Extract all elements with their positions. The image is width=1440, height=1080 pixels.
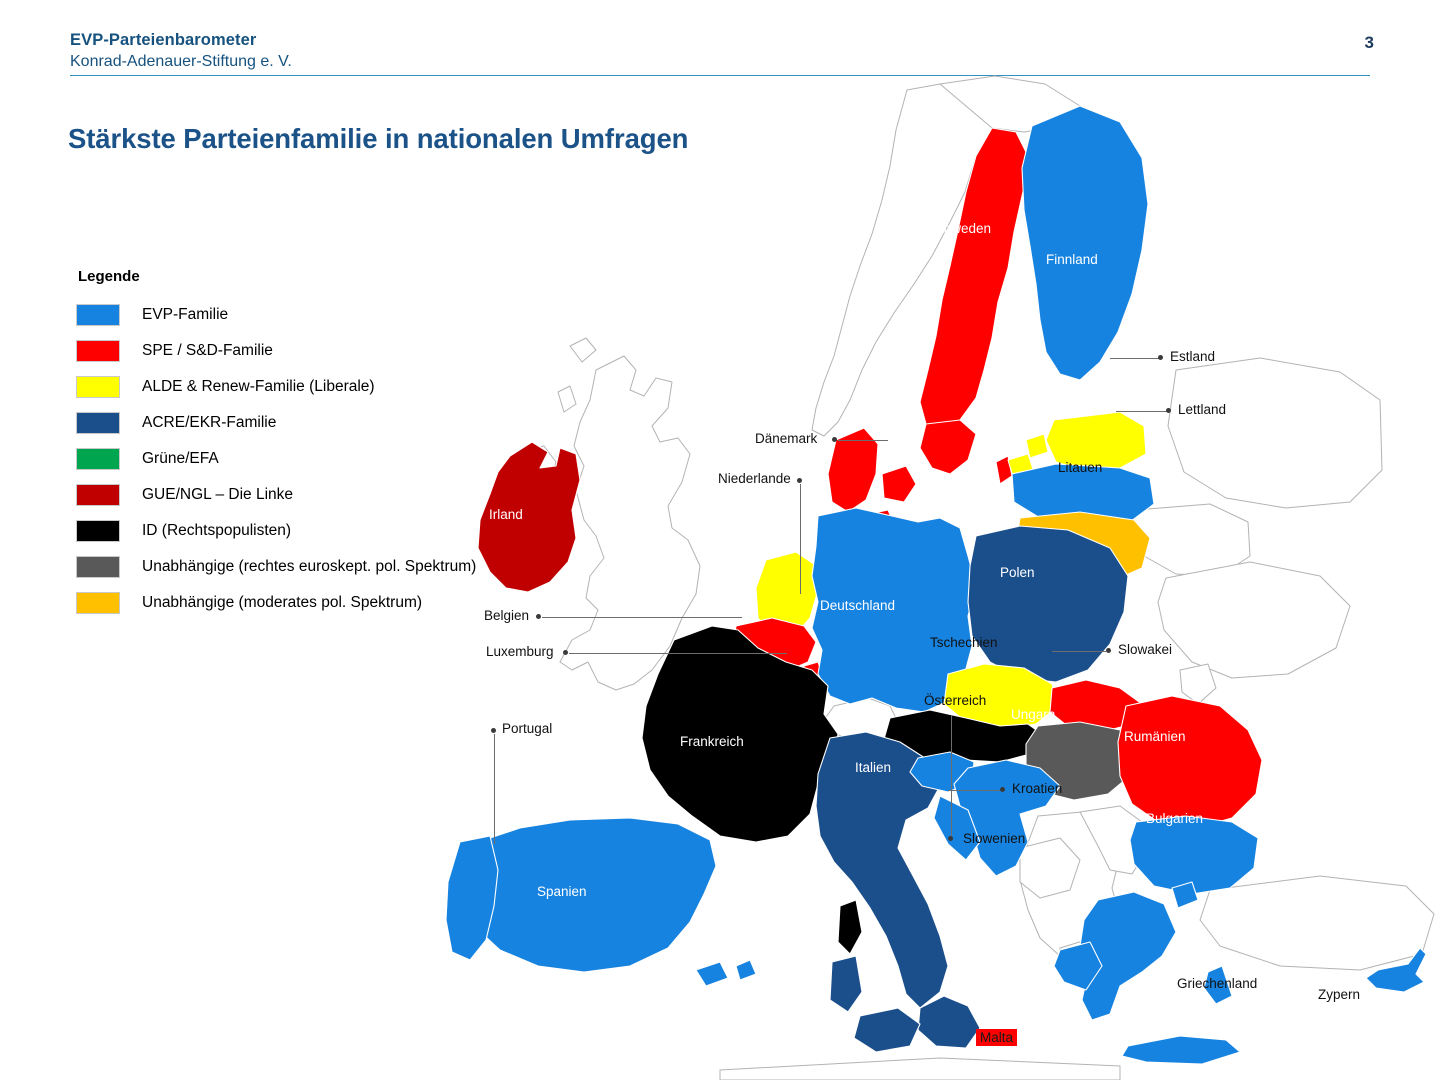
page-header: EVP-Parteienbarometer Konrad-Adenauer-St… (0, 0, 1440, 78)
map-label-griechenland: Griechenland (1177, 977, 1257, 991)
leader-line-slowakei (1052, 651, 1106, 652)
legend-swatch-gue (76, 484, 120, 506)
country-sizilien (854, 1008, 920, 1052)
map-label-irland: Irland (489, 508, 523, 522)
leader-dot-estland (1158, 355, 1163, 360)
page-number: 3 (1365, 33, 1374, 53)
map-label-polen: Polen (1000, 566, 1035, 580)
country-spanien (462, 818, 716, 972)
country-finnland (1022, 106, 1148, 380)
map-label-belgien: Belgien (484, 609, 529, 623)
map-label-frankreich: Frankreich (680, 735, 744, 749)
legend-swatch-unab-rechts (76, 556, 120, 578)
leader-line-lettland (1116, 411, 1170, 412)
outline-hebrides (558, 386, 576, 412)
legend-swatch-unab-moderat (76, 592, 120, 614)
leader-dot-daenemark (832, 437, 837, 442)
leader-dot-kroatien (1000, 787, 1005, 792)
map-label-finnland: Finnland (1046, 253, 1098, 267)
map-label-lettland: Lettland (1178, 403, 1226, 417)
brand-subtitle: Konrad-Adenauer-Stiftung e. V. (70, 51, 292, 73)
leader-dot-portugal (491, 728, 496, 733)
legend-label-alde: ALDE & Renew-Familie (Liberale) (142, 378, 375, 396)
country-estland-isl (1026, 434, 1048, 458)
country-spanien-balearen2 (736, 960, 756, 980)
map-label-tschechien: Tschechien (930, 636, 998, 650)
map-label-bulgarien: Bulgarien (1146, 812, 1203, 826)
map-label-ungarn: Ungarn (1011, 708, 1055, 722)
leader-line-slowenien (951, 715, 952, 839)
legend-label-unab-moderat: Unabhängige (moderates pol. Spektrum) (142, 594, 422, 612)
legend-swatch-evp (76, 304, 120, 326)
map-label-oesterreich: Österreich (924, 694, 986, 708)
country-polen (968, 526, 1128, 682)
outline-north-africa (720, 1058, 1120, 1080)
outline-scotland-isles (570, 338, 596, 362)
legend-label-spe: SPE / S&D-Familie (142, 342, 273, 360)
brand-block: EVP-Parteienbarometer Konrad-Adenauer-St… (70, 29, 292, 73)
leader-line-niederlande (800, 484, 801, 594)
leader-line-luxemburg (569, 653, 787, 654)
country-sardinien (830, 956, 862, 1012)
leader-line-estland (1110, 358, 1162, 359)
map-label-malta: Malta (976, 1029, 1017, 1046)
leader-dot-slowenien (948, 836, 953, 841)
outline-russia (1168, 358, 1382, 508)
map-label-portugal: Portugal (502, 722, 552, 736)
leader-dot-belgien (536, 614, 541, 619)
leader-dot-lettland (1166, 408, 1171, 413)
legend-swatch-id (76, 520, 120, 542)
country-schweden-south (920, 420, 976, 474)
country-italien-sued (918, 996, 980, 1048)
map-label-slowenien: Slowenien (963, 832, 1025, 846)
map-label-deutschland: Deutschland (820, 599, 895, 613)
legend-label-gue: GUE/NGL – Die Linke (142, 486, 293, 504)
country-bulgarien (1130, 816, 1258, 894)
legend-swatch-spe (76, 340, 120, 362)
legend-swatch-acre (76, 412, 120, 434)
country-daenemark-isl (882, 466, 916, 502)
legend-label-id: ID (Rechtspopulisten) (142, 522, 291, 540)
legend-label-acre: ACRE/EKR-Familie (142, 414, 276, 432)
legend-label-gruene: Grüne/EFA (142, 450, 219, 468)
country-kreta (1122, 1036, 1240, 1064)
map-label-luxemburg: Luxemburg (486, 645, 554, 659)
map-label-italien: Italien (855, 761, 891, 775)
leader-line-portugal (494, 734, 495, 844)
outline-ukraine (1158, 562, 1350, 678)
legend-label-evp: EVP-Familie (142, 306, 228, 324)
legend-swatch-gruene (76, 448, 120, 470)
map-label-zypern: Zypern (1318, 988, 1360, 1002)
map-label-niederlande: Niederlande (718, 472, 791, 486)
outline-turkey (1200, 876, 1434, 970)
outline-moldova (1180, 664, 1216, 704)
country-korsika (838, 900, 862, 954)
map-label-rumaenien: Rumänien (1124, 730, 1186, 744)
country-rumaenien (1118, 696, 1262, 828)
map-label-slowakei: Slowakei (1118, 643, 1172, 657)
leader-dot-niederlande (797, 478, 802, 483)
map-label-spanien: Spanien (537, 885, 587, 899)
map-label-daenemark: Dänemark (755, 432, 817, 446)
country-spanien-balearen (696, 962, 728, 986)
brand-title: EVP-Parteienbarometer (70, 29, 292, 51)
legend-swatch-alde (76, 376, 120, 398)
map-label-schweden: Schweden (928, 222, 991, 236)
leader-line-daenemark (838, 440, 888, 441)
leader-line-kroatien (948, 790, 1000, 791)
leader-line-belgien (542, 617, 742, 618)
leader-dot-luxemburg (563, 650, 568, 655)
leader-dot-slowakei (1106, 648, 1111, 653)
map-label-estland: Estland (1170, 350, 1215, 364)
map-label-kroatien: Kroatien (1012, 782, 1062, 796)
map-label-litauen: Litauen (1058, 461, 1102, 475)
